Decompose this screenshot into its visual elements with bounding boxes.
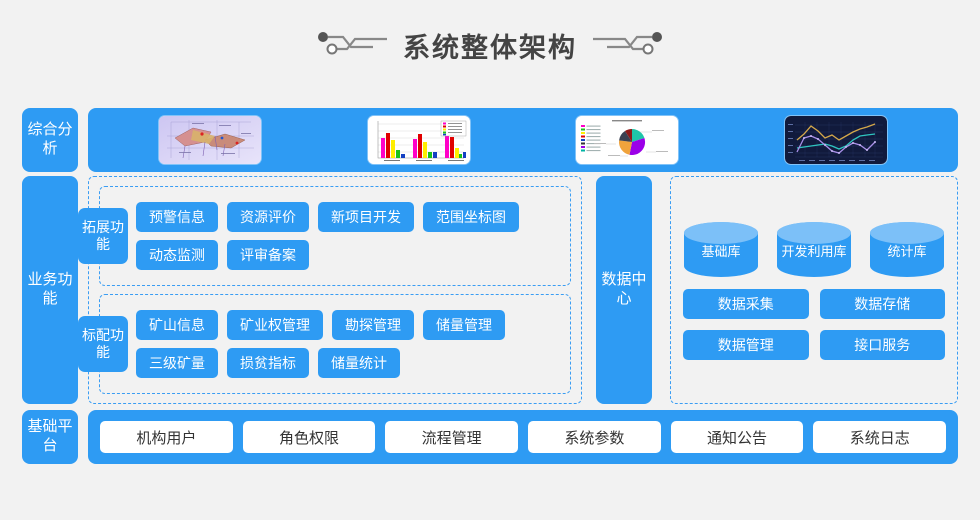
architecture-diagram: 系统整体架构 综合分析 (0, 0, 980, 520)
function-group-extended: 拓展功能 预警信息 资源评价 新项目开发 范围坐标图 动态监测 评审备案 (99, 186, 571, 286)
base-platform-button-system-log[interactable]: 系统日志 (813, 421, 946, 453)
base-platform-button-notice-announcement[interactable]: 通知公告 (671, 421, 804, 453)
function-button-dynamic-monitoring[interactable]: 动态监测 (136, 240, 218, 270)
base-platform-bar: 机构用户 角色权限 流程管理 系统参数 通知公告 系统日志 (88, 410, 958, 464)
function-group-standard-label[interactable]: 标配功能 (78, 316, 128, 372)
function-button-range-coordinate-map[interactable]: 范围坐标图 (423, 202, 519, 232)
database-cylinder-development-label: 开发利用库 (781, 239, 846, 260)
database-cylinder-statistics-label: 统计库 (887, 239, 926, 260)
business-row: 业务功能 拓展功能 预警信息 资源评价 新项目开发 范围坐标图 动态监测 评审备… (22, 176, 958, 404)
function-button-early-warning[interactable]: 预警信息 (136, 202, 218, 232)
pie-chart-thumbnail[interactable] (576, 116, 678, 164)
database-cylinder-basic-label: 基础库 (701, 239, 740, 260)
function-group-extended-label[interactable]: 拓展功能 (78, 208, 128, 264)
database-row: 基础库 开发利用库 (683, 220, 945, 278)
circuit-line-right-icon (591, 30, 663, 61)
data-center-module-row-1: 数据采集 数据存储 (683, 289, 945, 319)
data-module-management[interactable]: 数据管理 (683, 330, 809, 360)
function-group-standard: 标配功能 矿山信息 矿业权管理 勘探管理 储量管理 三级矿量 损贫指标 储量统计 (99, 294, 571, 394)
data-module-storage[interactable]: 数据存储 (820, 289, 946, 319)
data-center-container: 基础库 开发利用库 (670, 176, 958, 404)
function-button-new-project-development[interactable]: 新项目开发 (318, 202, 414, 232)
base-platform-button-process-management[interactable]: 流程管理 (385, 421, 518, 453)
sidebar-tab-data-center-label: 数据中心 (596, 271, 652, 309)
base-platform-row: 基础平台 机构用户 角色权限 流程管理 系统参数 通知公告 系统日志 (22, 410, 958, 464)
data-module-interface-service[interactable]: 接口服务 (820, 330, 946, 360)
business-function-container: 拓展功能 预警信息 资源评价 新项目开发 范围坐标图 动态监测 评审备案 标配功… (88, 176, 582, 404)
function-button-review-filing[interactable]: 评审备案 (227, 240, 309, 270)
bar-chart-thumbnail[interactable] (368, 116, 470, 164)
function-group-extended-items: 预警信息 资源评价 新项目开发 范围坐标图 动态监测 评审备案 (136, 202, 560, 270)
sidebar-tab-base-platform-label: 基础平台 (22, 418, 78, 456)
sidebar-tab-data-center[interactable]: 数据中心 (596, 176, 652, 404)
sidebar-tab-analysis[interactable]: 综合分析 (22, 108, 78, 172)
analysis-row: 综合分析 (22, 108, 958, 172)
data-center-module-row-2: 数据管理 接口服务 (683, 330, 945, 360)
sidebar-tab-base-platform[interactable]: 基础平台 (22, 410, 78, 464)
function-group-standard-items: 矿山信息 矿业权管理 勘探管理 储量管理 三级矿量 损贫指标 储量统计 (136, 310, 560, 378)
3d-geology-model-thumbnail[interactable] (159, 116, 261, 164)
function-button-resource-evaluation[interactable]: 资源评价 (227, 202, 309, 232)
function-button-reserve-management[interactable]: 储量管理 (423, 310, 505, 340)
sidebar-tab-business[interactable]: 业务功能 (22, 176, 78, 404)
analysis-thumbnail-bar (88, 108, 958, 172)
base-platform-button-system-parameters[interactable]: 系统参数 (528, 421, 661, 453)
page-title: 系统整体架构 (403, 26, 577, 65)
line-chart-thumbnail[interactable] (785, 116, 887, 164)
sidebar-tab-business-label: 业务功能 (22, 271, 78, 309)
database-cylinder-basic[interactable]: 基础库 (683, 220, 759, 278)
database-cylinder-statistics[interactable]: 统计库 (869, 220, 945, 278)
database-cylinder-development[interactable]: 开发利用库 (776, 220, 852, 278)
page-header: 系统整体架构 (0, 26, 980, 65)
function-button-loss-dilution-index[interactable]: 损贫指标 (227, 348, 309, 378)
base-platform-button-org-users[interactable]: 机构用户 (100, 421, 233, 453)
function-button-mining-rights-management[interactable]: 矿业权管理 (227, 310, 323, 340)
circuit-line-left-icon (317, 30, 389, 61)
function-button-exploration-management[interactable]: 勘探管理 (332, 310, 414, 340)
data-module-collection[interactable]: 数据采集 (683, 289, 809, 319)
base-platform-button-role-permissions[interactable]: 角色权限 (243, 421, 376, 453)
function-button-three-level-ore-volume[interactable]: 三级矿量 (136, 348, 218, 378)
function-button-reserve-statistics[interactable]: 储量统计 (318, 348, 400, 378)
sidebar-tab-analysis-label: 综合分析 (22, 121, 78, 159)
function-button-mine-information[interactable]: 矿山信息 (136, 310, 218, 340)
